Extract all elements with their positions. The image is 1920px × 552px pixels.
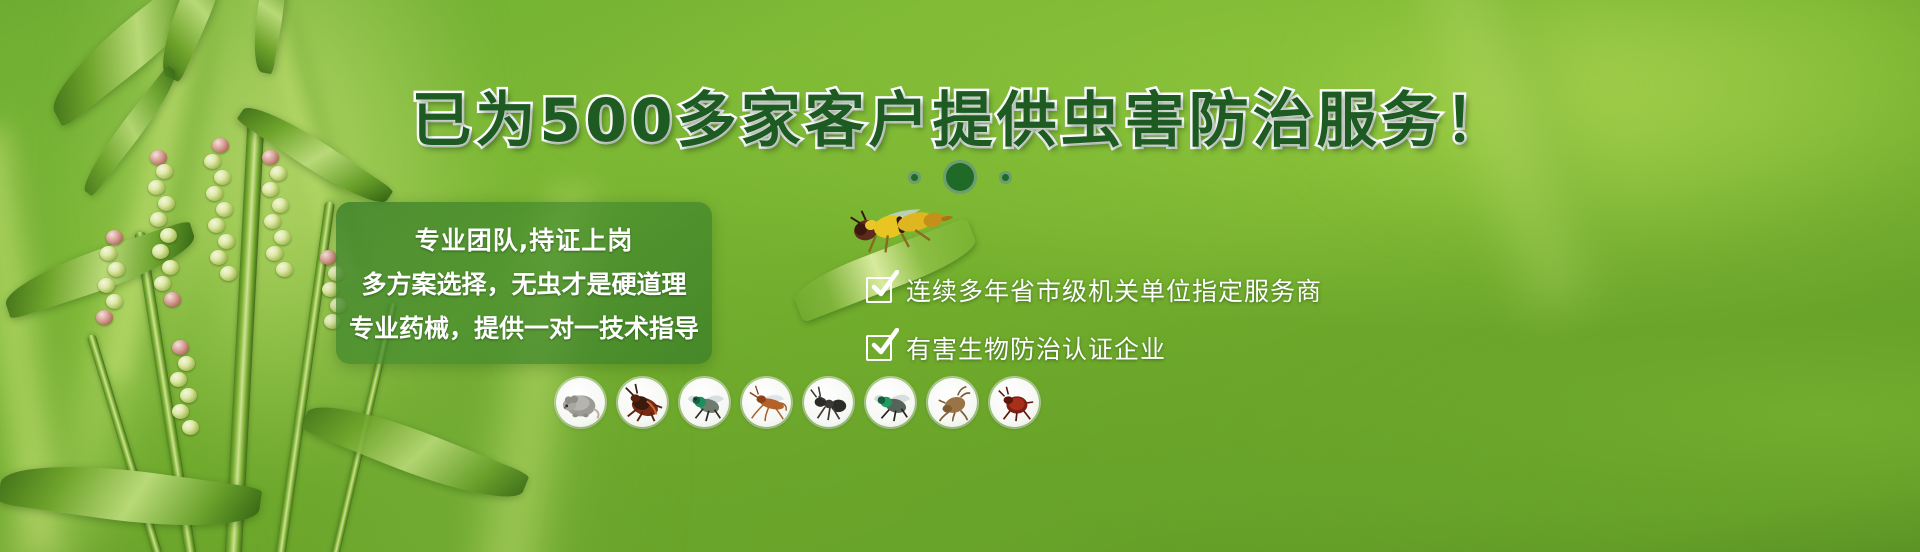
green-fly-icon[interactable] — [866, 378, 915, 427]
decor-dot-small-right — [999, 171, 1012, 184]
cockroach-icon[interactable] — [618, 378, 667, 427]
page-title: 已为500多家客户提供虫害防治服务！ — [0, 72, 1920, 159]
selling-point-3: 专业药械，提供一对一技术指导 — [336, 309, 712, 345]
decorative-dots — [0, 160, 1920, 194]
credential-label-1: 连续多年省市级机关单位指定服务商 — [906, 272, 1322, 308]
selling-points-list: 专业团队,持证上岗 多方案选择，无虫才是硬道理 专业药械，提供一对一技术指导 — [336, 202, 712, 364]
headline-text: 已为500多家客户提供虫害防治服务！ — [411, 86, 1508, 156]
mosquito-icon[interactable] — [742, 378, 791, 427]
credential-label-2: 有害生物防治认证企业 — [906, 330, 1166, 366]
check-square-icon — [866, 277, 892, 303]
decor-dot-big-center — [943, 160, 977, 194]
pest-control-banner: 已为500多家客户提供虫害防治服务！ 专业团队,持证上岗 多方案选择，无虫才是硬… — [0, 0, 1920, 552]
pest-icon-strip — [556, 378, 1039, 427]
ant-icon[interactable] — [804, 378, 853, 427]
fly-icon[interactable] — [680, 378, 729, 427]
selling-point-2: 多方案选择，无虫才是硬道理 — [336, 265, 712, 301]
credentials-checklist: 连续多年省市级机关单位指定服务商 有害生物防治认证企业 — [866, 272, 1322, 366]
selling-point-1: 专业团队,持证上岗 — [336, 221, 712, 257]
credential-row-1: 连续多年省市级机关单位指定服务商 — [866, 272, 1322, 308]
mouse-icon[interactable] — [556, 378, 605, 427]
credential-row-2: 有害生物防治认证企业 — [866, 330, 1322, 366]
decor-dot-small-left — [908, 171, 921, 184]
check-square-icon — [866, 335, 892, 361]
flea-icon[interactable] — [928, 378, 977, 427]
bedbug-icon[interactable] — [990, 378, 1039, 427]
